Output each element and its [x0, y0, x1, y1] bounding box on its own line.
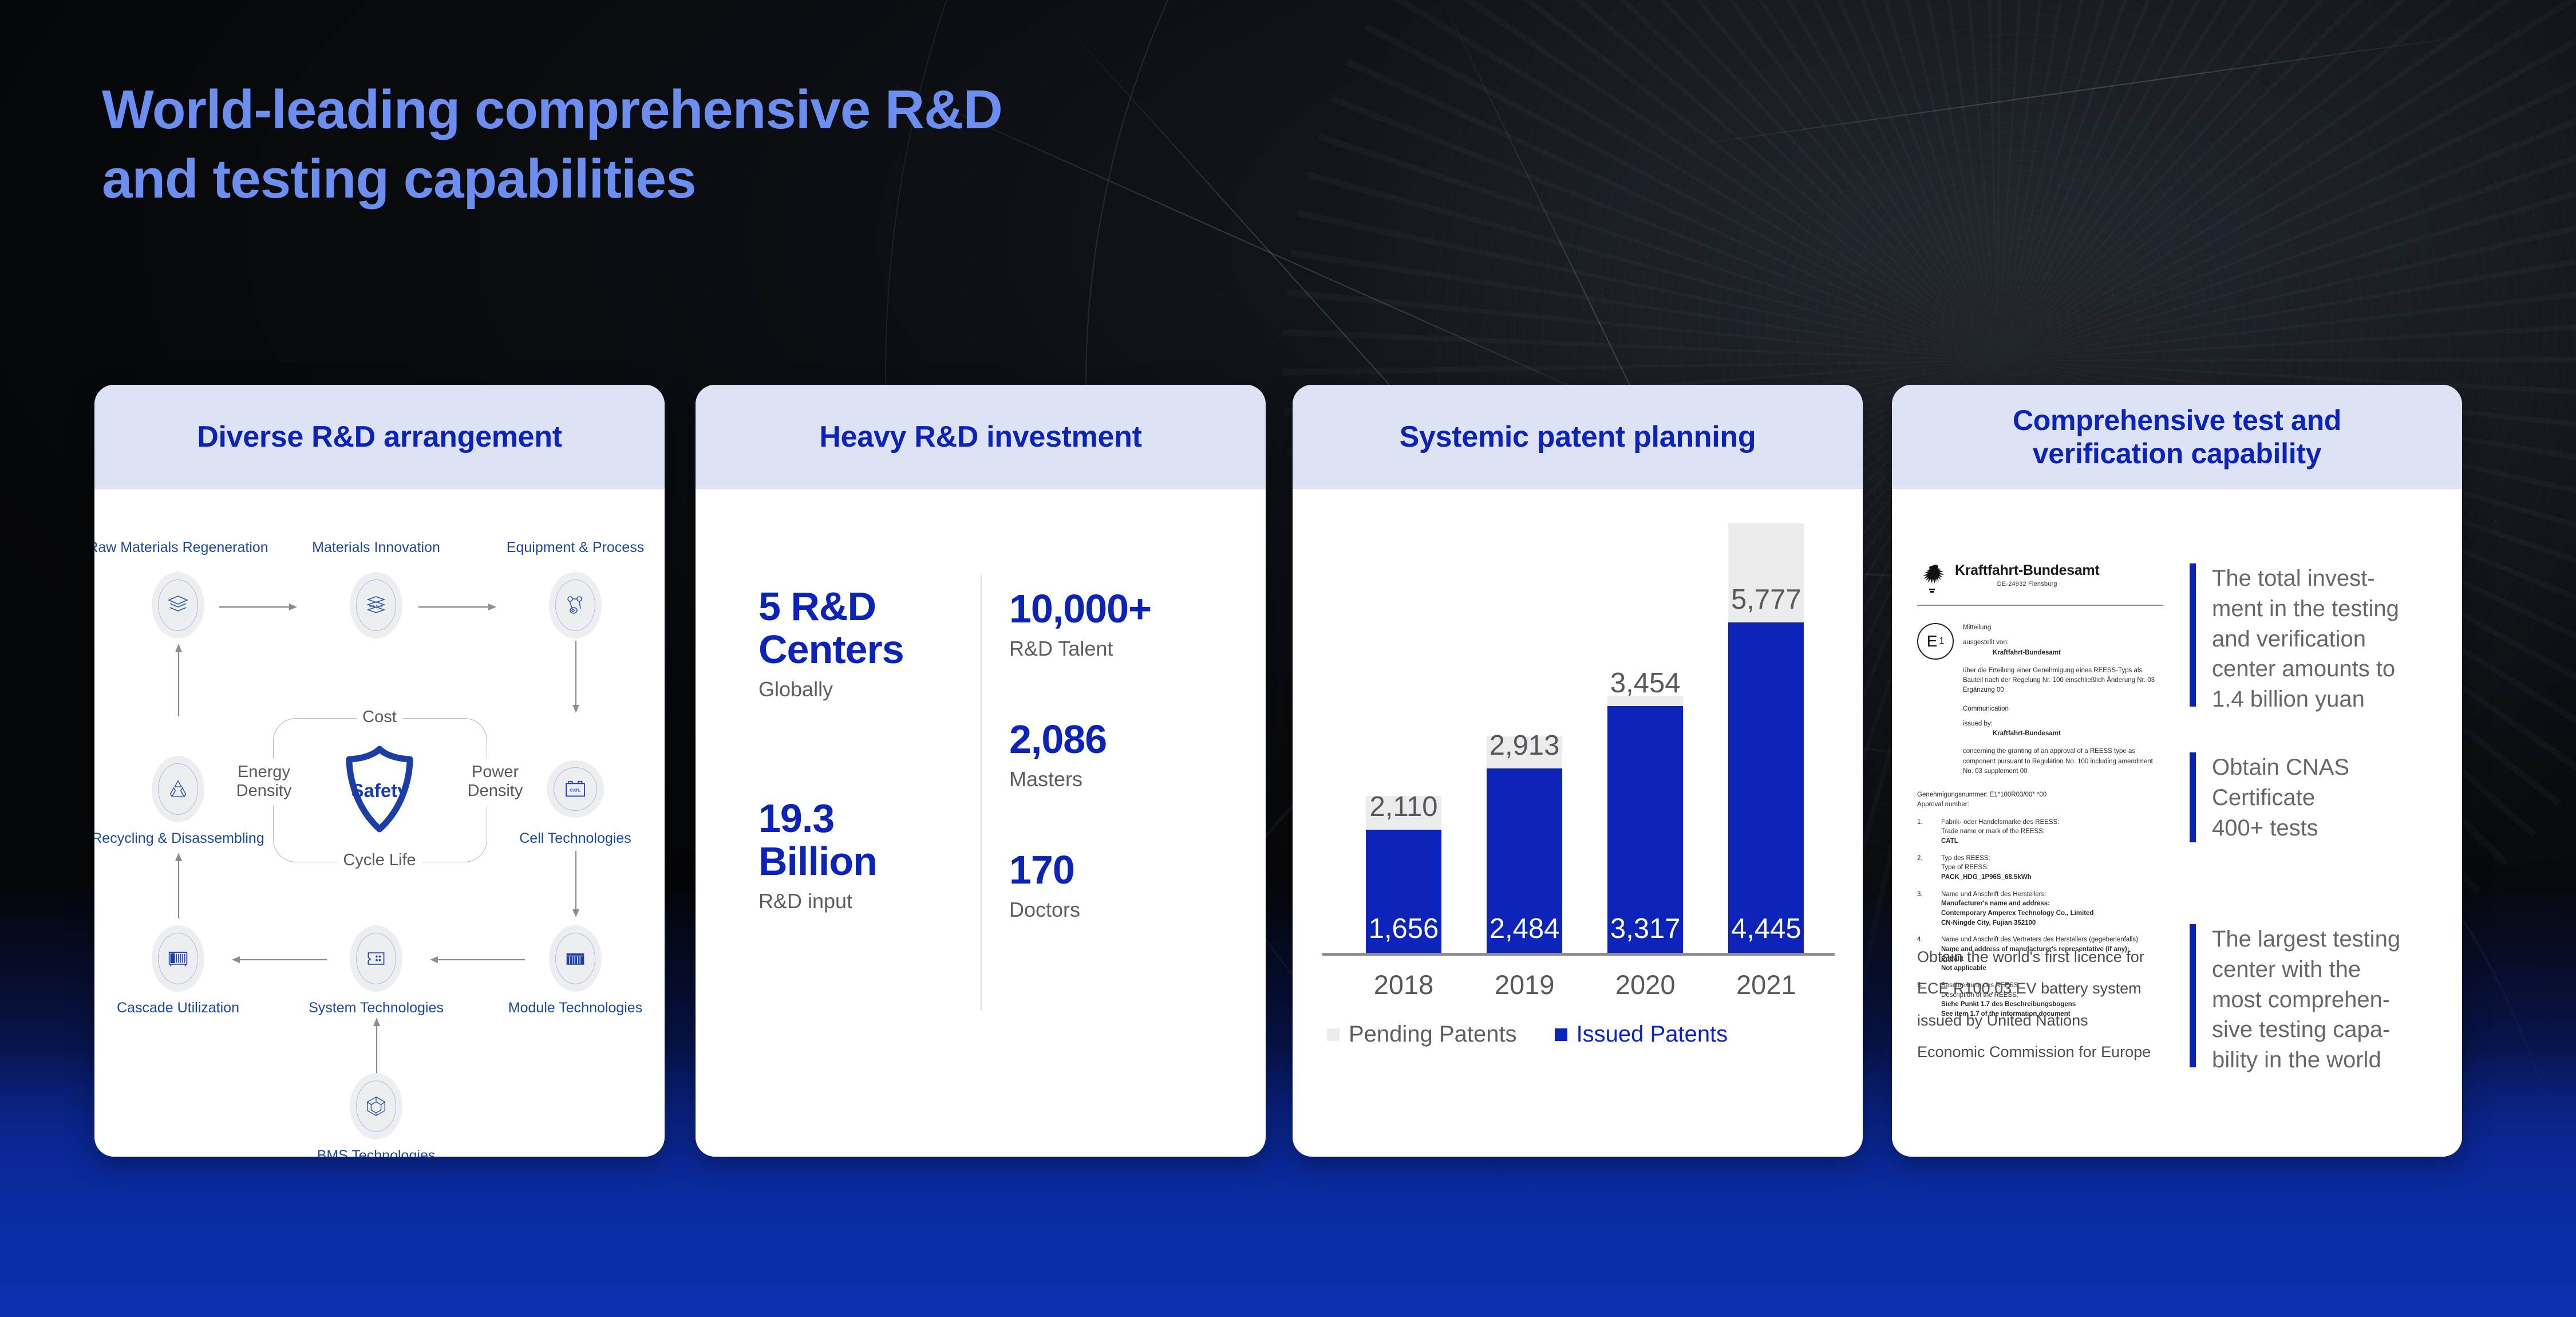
frame-label-power-density: PowerDensity — [464, 758, 527, 806]
page-title: World-leading comprehensive R&D and test… — [102, 76, 1361, 214]
node-label-equipment-process: Equipment & Process — [507, 539, 644, 556]
certificate-item-line: Trade name or mark of the REESS: — [1941, 827, 2059, 837]
bullet-cnas-certificate-text: Obtain CNASCertificate400+ tests — [2212, 752, 2349, 843]
cert-approval-en: Approval number: — [1917, 800, 2163, 810]
certificate-item-number: 1. — [1917, 818, 1926, 846]
certificate-header: Kraftfahrt-Bundesamt DE-24932 Flensburg — [1917, 563, 2163, 597]
node-label-system-technologies: System Technologies — [309, 1000, 444, 1016]
frame-label-energy-density: EnergyDensity — [233, 758, 295, 806]
node-ring: CATL — [554, 767, 597, 811]
certificate-item-line: Type of REESS: — [1941, 863, 2032, 873]
svg-text:CATL: CATL — [570, 788, 581, 792]
frame-label-cost: Cost — [357, 708, 402, 727]
arrow-equipment-to-cell — [571, 641, 580, 715]
node-ring — [158, 579, 198, 631]
chart-legend: Pending Patents Issued Patents — [1327, 1022, 1831, 1047]
certificate-text-column: Mitteilung ausgestellt von: Kraftfahrt-B… — [1963, 623, 2163, 776]
catl-battery-icon: CATL — [562, 778, 588, 801]
certificate-approval-block: Genehmigungsnummer: E1*100R03/00* *00 Ap… — [1917, 790, 2163, 810]
bar-label-pending-2018: 2,110 — [1370, 791, 1438, 823]
bullet-total-investment-text: The total invest-ment in the testingand … — [2212, 563, 2399, 715]
bar-label-pending-2020: 3,454 — [1610, 667, 1681, 699]
card3-header: Systemic patent planning — [1293, 385, 1863, 489]
e1-mark-letter: E — [1927, 632, 1938, 650]
node-raw-materials-regeneration[interactable] — [152, 572, 204, 638]
certificate-item-lines: Typ des REESS:Type of REESS:PACK_HDG_1P9… — [1941, 854, 2032, 882]
bar-label-issued-2020: 3,317 — [1610, 913, 1681, 945]
bullet-largest-testing-center-text: The largest testingcenter with themost c… — [2212, 924, 2400, 1075]
stats-divider — [981, 575, 982, 1010]
chart-x-axis-line — [1322, 953, 1835, 956]
stat-rd-talent-value: 10,000+ — [1009, 587, 1151, 630]
bullet-cnas-certificate: Obtain CNASCertificate400+ tests — [2190, 752, 2436, 843]
card-diverse-rd-arrangement: Diverse R&D arrangement Raw Materials Re… — [94, 385, 665, 1157]
bar-label-issued-2018: 1,656 — [1369, 913, 1439, 945]
page-title-line-2: and testing capabilities — [102, 145, 1361, 214]
bullet-accent-bar — [2190, 924, 2196, 1067]
card4-header: Comprehensive test andverification capab… — [1892, 385, 2462, 489]
bar-group-2018[interactable]: 2,1101,656 — [1366, 796, 1441, 953]
cert-en-label1: Communication — [1963, 704, 2163, 714]
chart-plot-area: 2,1101,6562,9132,4843,4543,3175,7774,445 — [1327, 523, 1831, 953]
card-comprehensive-test-verification: Comprehensive test andverification capab… — [1892, 385, 2462, 1157]
certificate-item-line: Typ des REESS: — [1941, 854, 2032, 863]
arrow-bms-to-system — [372, 1016, 381, 1078]
bar-label-issued-2021: 4,445 — [1731, 913, 1801, 945]
certificate-item-line: Contemporary Amperex Technology Co., Lim… — [1941, 909, 2093, 918]
bar-segment-issued-2018[interactable]: 1,656 — [1366, 830, 1441, 953]
node-ring — [356, 579, 396, 631]
material-stack-icon — [364, 593, 389, 618]
stat-rd-input-value: 19.3Billion — [758, 797, 877, 883]
arrow-cascade-to-recycling — [174, 851, 183, 918]
legend-label-pending: Pending Patents — [1349, 1022, 1517, 1047]
bullet-total-investment: The total invest-ment in the testingand … — [2190, 563, 2436, 715]
bar-group-2020[interactable]: 3,4543,317 — [1607, 696, 1683, 953]
legend-swatch-pending — [1327, 1028, 1340, 1041]
certificate-item-line: Fabrik- oder Handelsmarke des REESS: — [1941, 818, 2059, 827]
bar-group-2021[interactable]: 5,7774,445 — [1728, 523, 1804, 953]
certificate-authority-block: Kraftfahrt-Bundesamt DE-24932 Flensburg — [1955, 563, 2099, 587]
bar-segment-issued-2020[interactable]: 3,317 — [1607, 706, 1683, 953]
stat-rd-talent-label: R&D Talent — [1009, 636, 1151, 661]
e1-approval-mark-icon: E1 — [1917, 623, 1954, 660]
node-ring — [356, 933, 396, 984]
stat-doctors-label: Doctors — [1009, 897, 1080, 922]
robot-arm-icon — [563, 593, 588, 618]
node-label-raw-materials-regeneration: Raw Materials Regeneration — [94, 539, 268, 556]
stat-rd-input-label: R&D input — [758, 889, 877, 913]
chart-x-tick-labels: 2018201920202021 — [1327, 969, 1831, 1003]
node-label-module-technologies: Module Technologies — [508, 1000, 642, 1016]
certificate-authority: Kraftfahrt-Bundesamt — [1955, 563, 2099, 578]
node-ring — [555, 579, 595, 631]
bullet-accent-bar — [2190, 752, 2196, 842]
node-ring — [158, 763, 198, 815]
safety-shield-badge: Safety — [343, 746, 416, 833]
cert-de-label1: Mitteilung — [1963, 623, 2163, 633]
bullet-accent-bar — [2190, 563, 2196, 707]
german-eagle-icon — [1917, 563, 1947, 597]
stat-masters: 2,086 Masters — [1009, 718, 1107, 791]
x-tick-2018: 2018 — [1374, 969, 1434, 1000]
card2-title: Heavy R&D investment — [819, 420, 1141, 454]
card3-title: Systemic patent planning — [1400, 420, 1756, 454]
stat-rd-input: 19.3Billion R&D input — [758, 797, 877, 913]
cert-de-label2: ausgestellt von: — [1963, 638, 2163, 648]
page-title-line-1: World-leading comprehensive R&D — [102, 79, 1002, 140]
system-board-icon — [364, 948, 388, 969]
node-system-technologies[interactable] — [350, 925, 402, 992]
bar-segment-pending-2019[interactable]: 2,913 — [1487, 736, 1562, 768]
certificate-item-lines: Fabrik- oder Handelsmarke des REESS:Trad… — [1941, 818, 2059, 846]
bar-label-pending-2019: 2,913 — [1490, 730, 1560, 762]
legend-swatch-issued — [1555, 1028, 1567, 1041]
node-recycling-disassembling[interactable] — [152, 756, 204, 822]
node-module-technologies[interactable] — [549, 925, 602, 992]
certificate-caption: Obtain the world's first licence for ECE… — [1917, 941, 2158, 1068]
node-cell-technologies[interactable]: CATL — [547, 760, 604, 818]
stat-doctors-value: 170 — [1009, 849, 1080, 892]
slide-canvas: World-leading comprehensive R&D and test… — [0, 0, 2576, 1317]
cabinet-icon — [166, 948, 190, 969]
certificate-authority-sub: DE-24932 Flensburg — [1955, 581, 2099, 587]
legend-item-pending-patents[interactable]: Pending Patents — [1327, 1022, 1517, 1047]
certificate-item: 2.Typ des REESS:Type of REESS:PACK_HDG_1… — [1917, 854, 2163, 882]
cert-en-paragraph: concerning the granting of an approval o… — [1963, 747, 2163, 776]
bar-label-pending-2021: 5,777 — [1731, 583, 1801, 616]
test-verification-content: Kraftfahrt-Bundesamt DE-24932 Flensburg … — [1892, 489, 2462, 1157]
node-equipment-process[interactable] — [549, 572, 602, 638]
node-ring — [158, 933, 198, 984]
certificate-item-line: Manufacturer's name and address: — [1941, 899, 2093, 909]
cert-de-paragraph: über die Erteilung einer Genehmigung ein… — [1963, 666, 2163, 696]
legend-label-issued: Issued Patents — [1577, 1022, 1728, 1047]
node-label-cascade-utilization: Cascade Utilization — [117, 1000, 239, 1016]
rd-arrangement-diagram: Raw Materials Regeneration Materials Inn… — [94, 489, 665, 1157]
stat-rd-centers-value: 5 R&DCenters — [758, 585, 904, 671]
bar-segment-pending-2020[interactable]: 3,454 — [1607, 696, 1683, 707]
recycle-icon — [166, 777, 190, 801]
certificate-item-line: CN-Ningde City, Fujian 352100 — [1941, 918, 2093, 928]
stat-rd-centers-label: Globally — [758, 677, 904, 701]
card2-header: Heavy R&D investment — [696, 385, 1266, 489]
certificate-item-number: 3. — [1917, 890, 1926, 928]
bar-segment-pending-2018[interactable]: 2,110 — [1366, 796, 1441, 830]
investment-stats: 5 R&DCenters Globally 10,000+ R&D Talent… — [696, 489, 1266, 1157]
cert-en-issuer: Kraftfahrt-Bundesamt — [1963, 729, 2163, 739]
certificate-item-line: Name und Anschrift des Herstellers: — [1941, 890, 2093, 900]
frame-label-bottom-cycle-life: Cycle Life — [337, 851, 421, 870]
bar-label-issued-2019: 2,484 — [1490, 913, 1560, 945]
arrow-system-to-cascade — [230, 955, 327, 964]
stat-masters-value: 2,086 — [1009, 718, 1107, 761]
card-systemic-patent-planning: Systemic patent planning 2,1101,6562,913… — [1293, 385, 1863, 1157]
stat-rd-centers: 5 R&DCenters Globally — [758, 585, 904, 701]
stat-rd-talent: 10,000+ R&D Talent — [1009, 587, 1151, 661]
arrow-materials-to-equipment — [418, 602, 499, 612]
bar-segment-issued-2021[interactable]: 4,445 — [1728, 622, 1804, 953]
x-tick-2019: 2019 — [1495, 969, 1555, 1000]
card1-header: Diverse R&D arrangement — [94, 385, 665, 489]
certificate-item: 3.Name und Anschrift des Herstellers:Man… — [1917, 890, 2163, 928]
cert-approval-de: Genehmigungsnummer: E1*100R03/00* *00 — [1917, 790, 2163, 800]
node-label-materials-innovation: Materials Innovation — [312, 539, 440, 556]
card4-title: Comprehensive test andverification capab… — [2013, 404, 2341, 470]
bar-group-2019[interactable]: 2,9132,484 — [1487, 736, 1562, 953]
node-label-recycling-disassembling: Recycling & Disassembling — [94, 830, 264, 847]
arrow-module-to-system — [428, 955, 525, 964]
bar-segment-pending-2021[interactable]: 5,777 — [1728, 523, 1804, 622]
certificate-item-number: 2. — [1917, 854, 1926, 882]
arrow-raw-to-materials — [219, 602, 299, 612]
card-heavy-rd-investment: Heavy R&D investment 5 R&DCenters Global… — [696, 385, 1266, 1157]
node-label-cell-technologies: Cell Technologies — [519, 830, 631, 847]
certificate-item-line: PACK_HDG_1P96S_68.5kWh — [1941, 873, 2032, 882]
stat-masters-label: Masters — [1009, 767, 1107, 791]
certificate-rule — [1917, 605, 2163, 606]
node-cascade-utilization[interactable] — [152, 925, 204, 992]
cube-icon — [364, 1094, 388, 1118]
x-tick-2021: 2021 — [1736, 969, 1796, 1000]
module-icon — [563, 948, 587, 969]
node-materials-innovation[interactable] — [350, 572, 402, 638]
legend-item-issued-patents[interactable]: Issued Patents — [1555, 1022, 1728, 1047]
layers-icon — [165, 593, 191, 618]
certificate-body: E1 Mitteilung ausgestellt von: Kraftfahr… — [1917, 623, 2163, 776]
cert-de-issuer: Kraftfahrt-Bundesamt — [1963, 648, 2163, 658]
arrow-cell-to-module — [571, 851, 580, 918]
node-bms-technologies[interactable] — [350, 1073, 402, 1139]
cert-en-label2: issued by: — [1963, 719, 2163, 729]
patent-chart: 2,1101,6562,9132,4843,4543,3175,7774,445… — [1293, 489, 1863, 1157]
safety-shield-label: Safety — [351, 780, 408, 802]
certificate-item-line: CATL — [1941, 837, 2059, 846]
x-tick-2020: 2020 — [1615, 969, 1676, 1000]
arrow-recycling-to-raw — [174, 641, 183, 716]
node-ring — [356, 1081, 396, 1132]
card1-title: Diverse R&D arrangement — [197, 420, 562, 454]
node-label-bms-technologies: BMS Technologies — [317, 1148, 436, 1157]
node-ring — [555, 933, 595, 984]
bar-segment-issued-2019[interactable]: 2,484 — [1487, 768, 1562, 953]
stat-doctors: 170 Doctors — [1009, 849, 1080, 922]
certificate-item-lines: Name und Anschrift des Herstellers:Manuf… — [1941, 890, 2093, 928]
kba-certificate-document: Kraftfahrt-Bundesamt DE-24932 Flensburg … — [1917, 563, 2163, 884]
e1-mark-number: 1 — [1939, 636, 1944, 646]
certificate-item: 1.Fabrik- oder Handelsmarke des REESS:Tr… — [1917, 818, 2163, 846]
bullet-largest-testing-center: The largest testingcenter with themost c… — [2190, 924, 2436, 1075]
